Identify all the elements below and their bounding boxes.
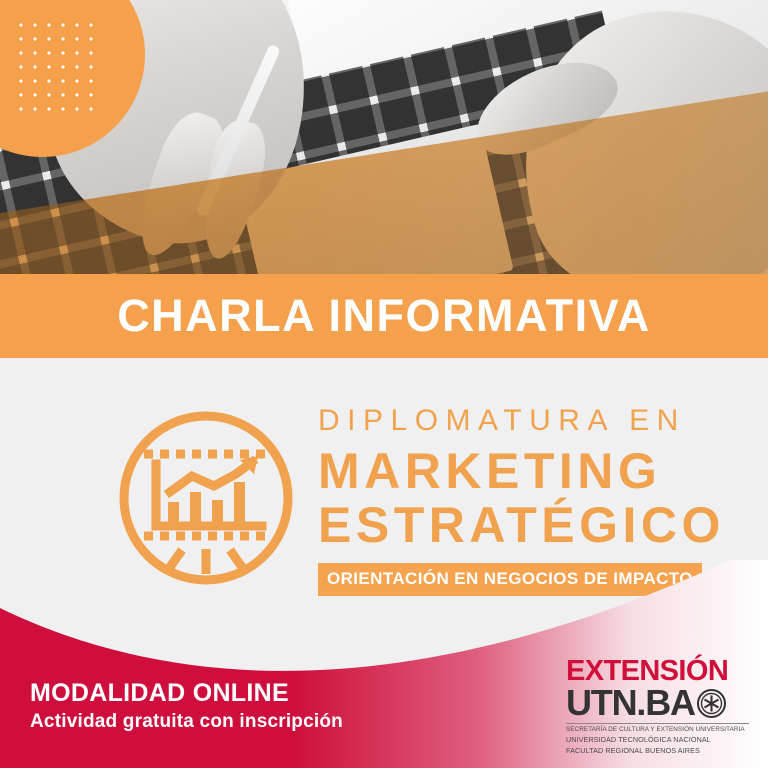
headline-banner: CHARLA INFORMATIVA [0,274,768,358]
modality-title: MODALIDAD ONLINE [30,680,343,708]
asterisk-circle-icon [696,688,727,719]
utn-ba-word: UTN.BA [566,686,695,721]
utn-name-row: UTN.BA [566,686,752,721]
utn-divider [566,723,749,724]
utn-subtitle-one: SECRETARÍA DE CULTURA Y EXTENSIÓN UNIVER… [566,726,752,735]
promo-poster: CHARLA INFORMATIVA DIPLOMATURA EN MARKET… [0,0,768,768]
title-line-two: ESTRATÉGICO [318,498,718,552]
utn-subtitle-three: FACULTAD REGIONAL BUENOS AIRES [566,746,752,756]
title-pretitle: DIPLOMATURA EN [318,406,718,436]
utn-logo-block: EXTENSIÓN UTN.BA SECRETARÍA DE CULTURA Y… [566,658,752,756]
utn-subtitle-two: UNIVERSIDAD TECNOLÓGICA NACIONAL [566,735,752,745]
title-line-one: MARKETING [318,444,718,498]
white-dot-grid [14,18,100,116]
headline-text: CHARLA INFORMATIVA [117,290,651,342]
modality-text-block: MODALIDAD ONLINE Actividad gratuita con … [30,680,343,733]
modality-note: Actividad gratuita con inscripción [30,711,343,734]
